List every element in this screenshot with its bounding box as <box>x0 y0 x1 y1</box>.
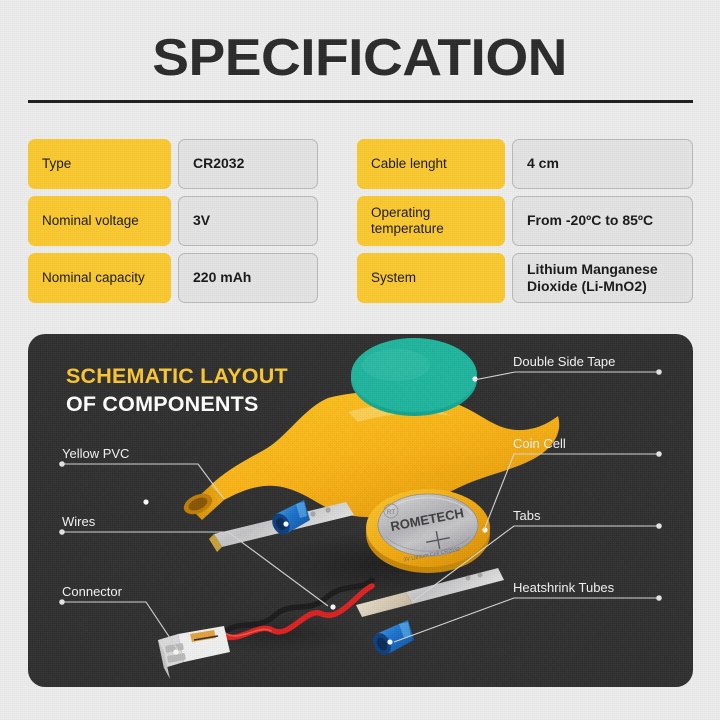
spec-value-label: From -20ºC to 85ºC <box>527 212 653 229</box>
label-coin-cell: Coin Cell <box>513 436 566 451</box>
spec-value-label: 4 cm <box>527 155 559 172</box>
spec-key-label: Nominal voltage <box>42 213 139 229</box>
schematic-heading: SCHEMATIC LAYOUT OF COMPONENTS <box>66 362 288 419</box>
label-wires: Wires <box>62 514 95 529</box>
table-row: Operating temperature <box>357 196 505 246</box>
spec-value: CR2032 <box>178 139 318 189</box>
label-double-side-tape: Double Side Tape <box>513 354 615 369</box>
spec-key-label: Type <box>42 156 71 172</box>
spec-value: 4 cm <box>512 139 693 189</box>
title-divider <box>28 100 693 103</box>
label-yellow-pvc: Yellow PVC <box>62 446 129 461</box>
label-tabs: Tabs <box>513 508 540 523</box>
page-title: SPECIFICATION <box>153 28 568 88</box>
spec-value: 220 mAh <box>178 253 318 303</box>
spec-value-label: Lithium Manganese Dioxide (Li-MnO2) <box>527 261 678 295</box>
spec-key-label: Cable lenght <box>371 156 447 172</box>
table-row: Type <box>28 139 171 189</box>
spec-key-label: System <box>371 270 416 286</box>
spec-value: From -20ºC to 85ºC <box>512 196 693 246</box>
spec-value: 3V <box>178 196 318 246</box>
spec-value-label: 3V <box>193 212 210 229</box>
label-heatshrink-tubes: Heatshrink Tubes <box>513 580 614 595</box>
spec-value: Lithium Manganese Dioxide (Li-MnO2) <box>512 253 693 303</box>
schematic-layout-panel: ROMETECH 3V Lithium Cell CR2032 RT <box>28 334 693 687</box>
table-row: Nominal capacity <box>28 253 171 303</box>
spec-key-label: Nominal capacity <box>42 270 145 286</box>
schematic-heading-line1: SCHEMATIC LAYOUT <box>66 362 288 390</box>
schematic-heading-line2: OF COMPONENTS <box>66 390 288 418</box>
table-row: System <box>357 253 505 303</box>
spec-value-label: 220 mAh <box>193 269 251 286</box>
spec-value-label: CR2032 <box>193 155 244 172</box>
column-gap <box>325 253 353 303</box>
table-row: Cable lenght <box>357 139 505 189</box>
page-title-wrapper: SPECIFICATION <box>0 28 720 88</box>
column-gap <box>325 196 353 246</box>
label-connector: Connector <box>62 584 122 599</box>
column-gap <box>325 139 353 189</box>
table-row: Nominal voltage <box>28 196 171 246</box>
spec-key-label: Operating temperature <box>371 205 491 238</box>
specification-table: Type CR2032 Cable lenght 4 cm Nominal vo… <box>28 139 693 303</box>
